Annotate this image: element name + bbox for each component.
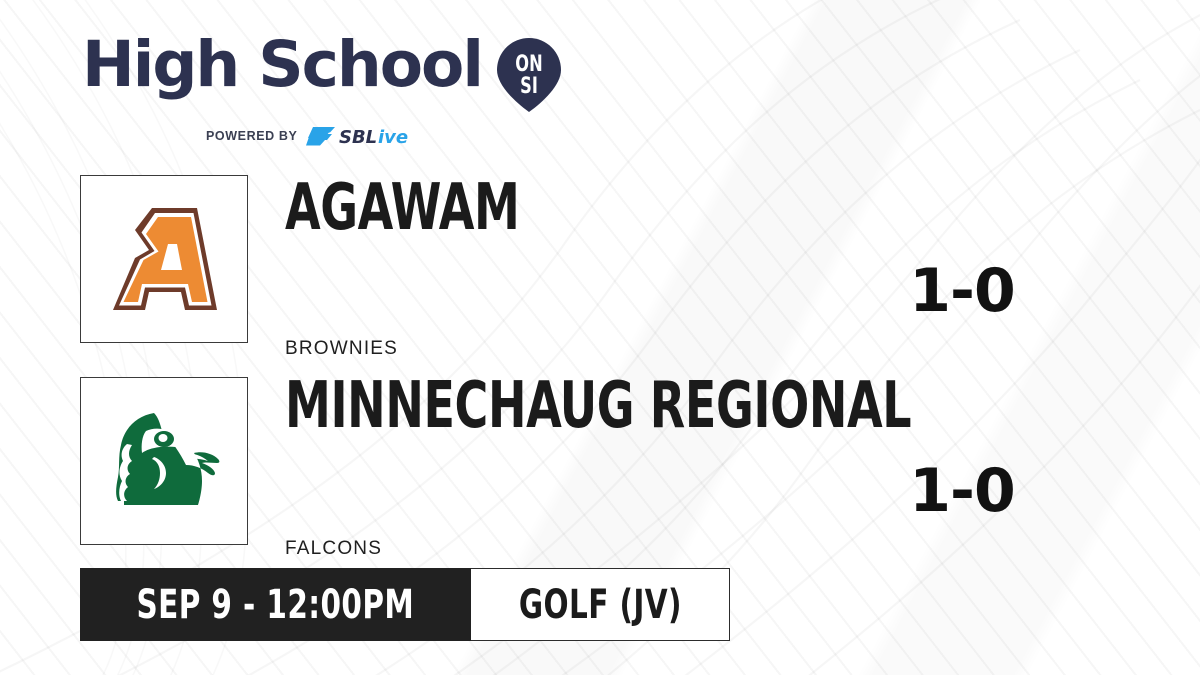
team1-name: AGAWAM: [285, 176, 519, 240]
game-sport-text: GOLF (JV): [519, 585, 682, 625]
sblive-s-mark: [306, 127, 335, 146]
badge-line-si: SI: [520, 72, 538, 98]
on-si-pin-badge: ON SI: [495, 36, 563, 119]
powered-by-row: POWERED BY SBL ive: [206, 125, 563, 147]
brand-title-row: High School ON SI: [82, 34, 563, 119]
agawam-a-logo: [105, 200, 223, 318]
brand-title: High School: [82, 34, 482, 96]
team1-logo-box: [80, 175, 248, 343]
matchup-graphic: High School ON SI POWERED BY: [0, 0, 1200, 675]
minnechaug-falcon-logo: [102, 401, 226, 521]
team2-record: 1-0: [862, 461, 1062, 521]
brand-header: High School ON SI POWERED BY: [82, 34, 563, 147]
game-sport-panel: GOLF (JV): [471, 568, 731, 641]
sblive-logo: SBL ive: [306, 125, 410, 147]
game-datetime-panel: SEP 9 - 12:00PM: [80, 568, 471, 641]
team2-name: MINNECHAUG REGIONAL: [285, 374, 911, 438]
team2-mascot: FALCONS: [285, 538, 382, 560]
game-datetime-text: SEP 9 - 12:00PM: [136, 585, 414, 625]
powered-by-label: POWERED BY: [206, 129, 297, 143]
team2-logo-box: [80, 377, 248, 545]
team1-record: 1-0: [862, 261, 1062, 321]
sblive-text-accent: ive: [378, 127, 408, 147]
team1-mascot: BROWNIES: [285, 338, 398, 360]
game-info-bar: SEP 9 - 12:00PM GOLF (JV): [80, 568, 730, 641]
sblive-text-dark: SBL: [339, 127, 377, 147]
